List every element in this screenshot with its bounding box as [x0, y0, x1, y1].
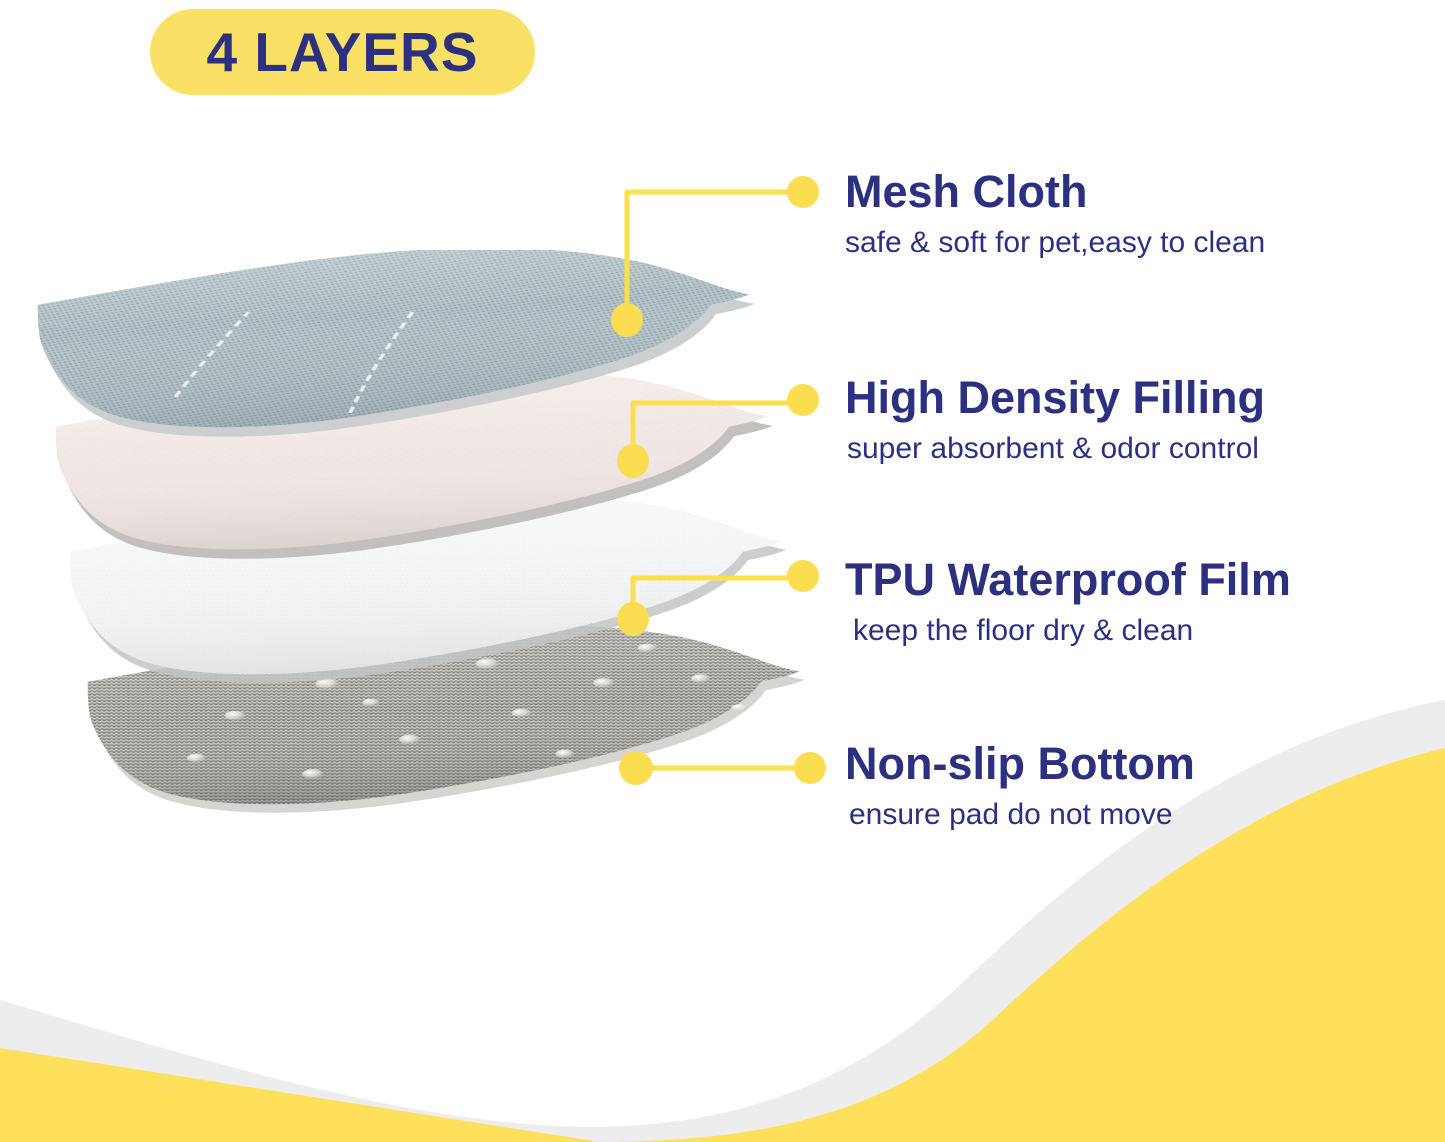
callout-high-density-filling: High Density Filling super absorbent & o… — [845, 374, 1265, 465]
callout-subtitle-non-slip-bottom: ensure pad do not move — [845, 798, 1195, 831]
layers-badge: 4 LAYERS — [150, 9, 535, 95]
layers-badge-label: 4 LAYERS — [207, 25, 479, 80]
callout-non-slip-bottom: Non-slip Bottom ensure pad do not move — [845, 740, 1195, 831]
decor-yellow-curve-left — [0, 1048, 560, 1142]
callout-tpu-waterproof-film: TPU Waterproof Film keep the floor dry &… — [845, 556, 1291, 647]
connector-dot-text-0 — [787, 176, 819, 208]
callout-subtitle-high-density-filling: super absorbent & odor control — [845, 432, 1265, 465]
callout-subtitle-tpu-waterproof-film: keep the floor dry & clean — [845, 614, 1291, 647]
callout-title-high-density-filling: High Density Filling — [845, 374, 1265, 421]
callout-mesh-cloth: Mesh Cloth safe & soft for pet,easy to c… — [845, 168, 1265, 259]
callout-subtitle-mesh-cloth: safe & soft for pet,easy to clean — [845, 226, 1265, 259]
layer-stack-illustration — [20, 250, 810, 930]
callout-title-tpu-waterproof-film: TPU Waterproof Film — [845, 556, 1291, 603]
callout-title-non-slip-bottom: Non-slip Bottom — [845, 740, 1195, 787]
callout-title-mesh-cloth: Mesh Cloth — [845, 168, 1265, 215]
infographic-canvas: 4 LAYERS — [0, 0, 1445, 1142]
